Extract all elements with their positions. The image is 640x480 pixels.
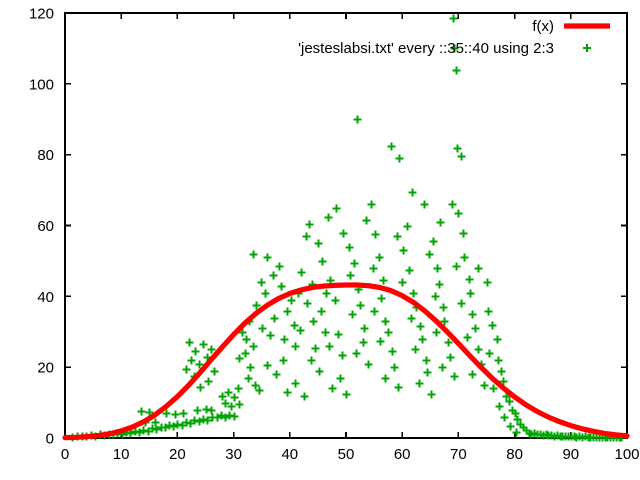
y-tick-label: 100 [29,76,54,93]
chart-canvas: 020406080100120 0102030405060708090100 f… [0,0,640,480]
y-tick-label: 40 [37,289,54,306]
legend-label-datafile: 'jesteslabsi.txt' every ::35::40 using 2… [298,40,554,57]
gnuplot-chart: 020406080100120 0102030405060708090100 f… [0,0,640,480]
x-tick-label: 40 [281,446,298,463]
x-tick-label: 60 [394,446,411,463]
x-tick-label: 20 [169,446,186,463]
y-tick-label: 60 [37,218,54,235]
x-tick-label: 30 [225,446,242,463]
x-tick-label: 80 [506,446,523,463]
y-tick-label: 80 [37,147,54,164]
x-tick-label: 100 [614,446,639,463]
x-tick-label: 70 [450,446,467,463]
x-tick-label: 10 [113,446,130,463]
x-tick-label: 0 [61,446,69,463]
y-tick-label: 0 [46,431,54,448]
y-tick-label: 20 [37,360,54,377]
chart-background [0,0,640,480]
x-tick-label: 90 [562,446,579,463]
legend-label-fx: f(x) [532,18,554,35]
y-tick-label: 120 [29,6,54,23]
x-tick-label: 50 [338,446,355,463]
